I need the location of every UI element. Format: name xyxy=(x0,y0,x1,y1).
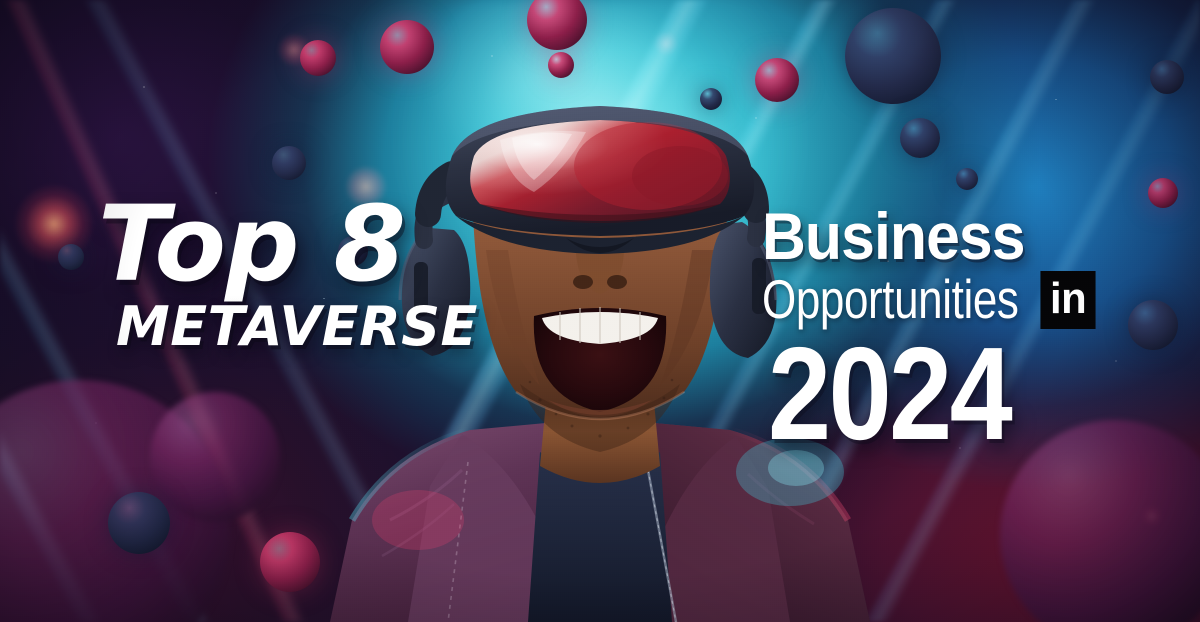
orb-crimson-lower-left xyxy=(260,532,320,592)
orb-crimson-right-low xyxy=(1148,178,1178,208)
headline-business: Business xyxy=(762,206,1158,267)
orb-dark-small-right xyxy=(956,168,978,190)
orb-dark-far-left xyxy=(58,244,84,270)
orb-planet-left-large xyxy=(0,380,230,622)
orb-crimson-top-right xyxy=(548,52,574,78)
headline-year: 2024 xyxy=(768,337,1133,451)
headline-right-block: Business Opportunities in 2024 xyxy=(762,206,1192,450)
orb-dark-small-center xyxy=(700,88,722,110)
orb-planet-mid-dark xyxy=(150,392,280,522)
orb-dark-top-right xyxy=(845,8,941,104)
orb-dark-lower-left xyxy=(108,492,170,554)
headline-metaverse: METAVERSE xyxy=(116,300,518,354)
orb-crimson-upper-right xyxy=(755,58,799,102)
orb-crimson-top-mid xyxy=(527,0,587,50)
headline-in-badge: in xyxy=(1040,271,1095,329)
headline-top8: Top 8 xyxy=(98,196,518,294)
orb-dark-left-upper xyxy=(272,146,306,180)
headline-left-block: Top 8 METAVERSE xyxy=(98,196,518,354)
orb-dark-right-far xyxy=(1150,60,1184,94)
metaverse-promo-banner: Top 8 METAVERSE Business Opportunities i… xyxy=(0,0,1200,622)
orb-crimson-left-mid xyxy=(300,40,336,76)
orb-dark-mid-right xyxy=(900,118,940,158)
orb-crimson-top-left xyxy=(380,20,434,74)
orb-planet-right-large xyxy=(1000,420,1200,622)
